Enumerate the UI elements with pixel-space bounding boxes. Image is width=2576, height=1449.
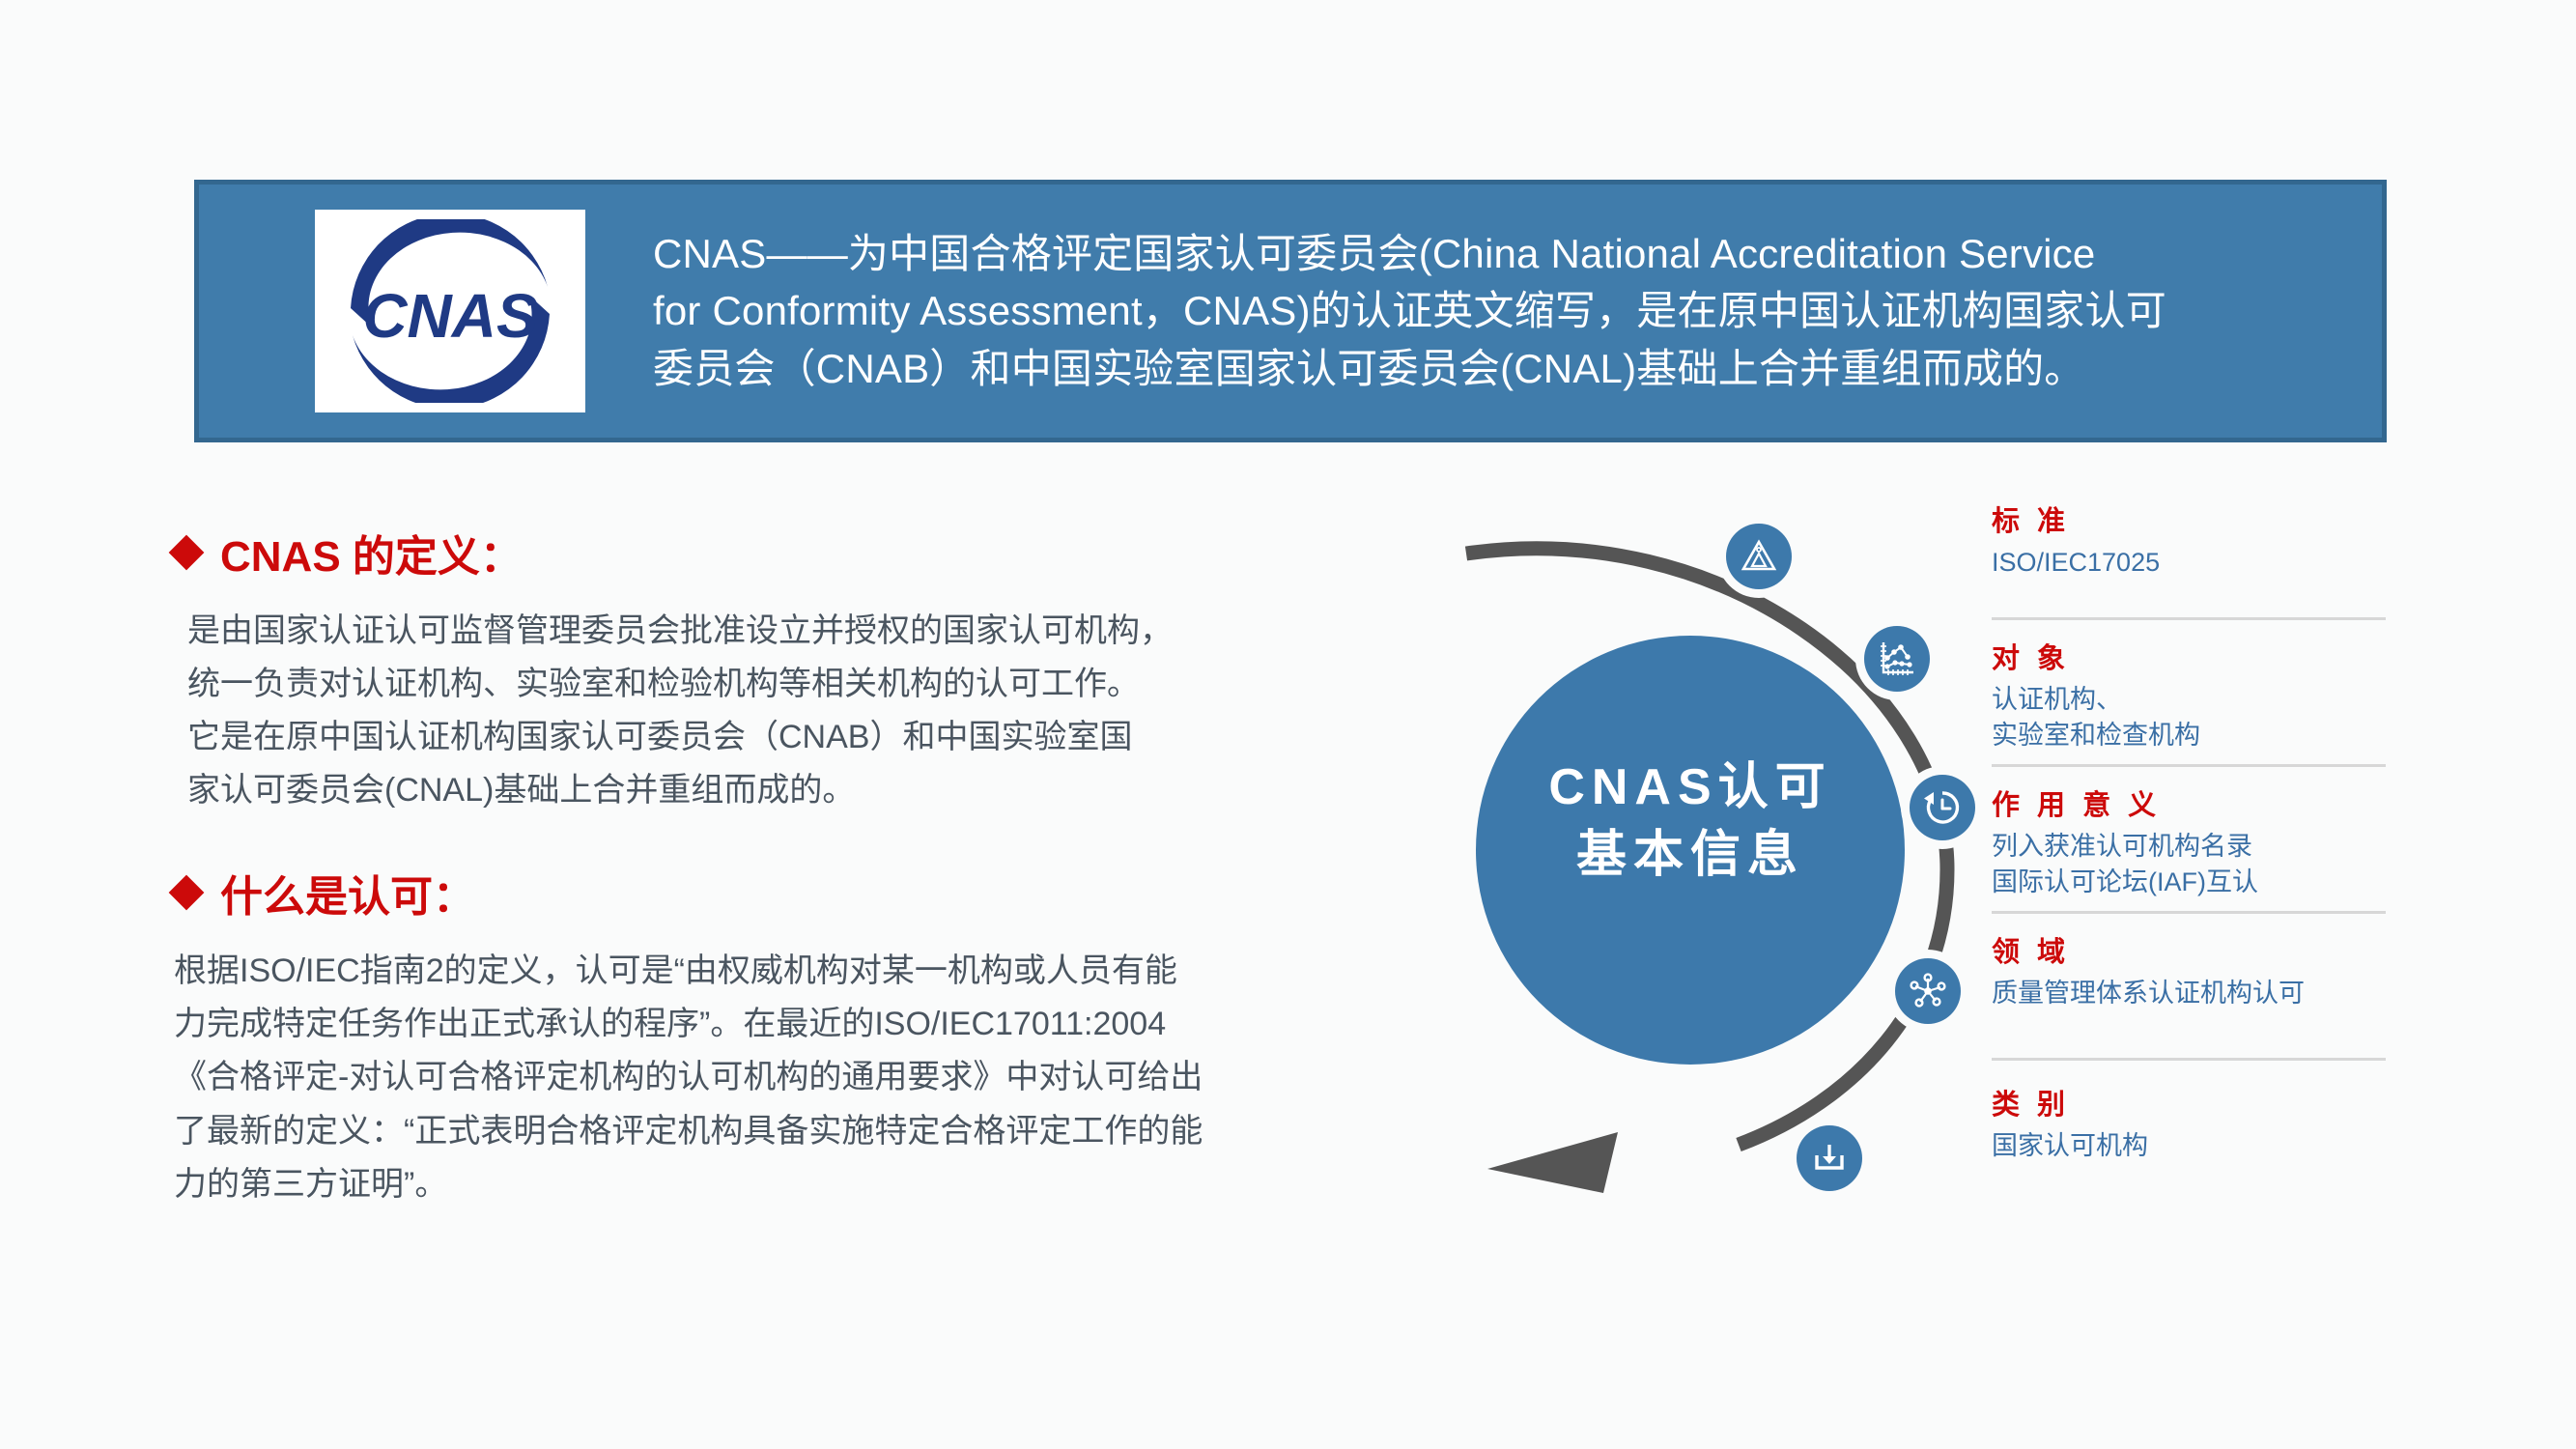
section-cnas-definition: CNAS 的定义： 是由国家认证认可监督管理委员会批准设立并授权的国家认可机构，… — [174, 522, 1420, 817]
info-item-category[interactable]: 类 别 国家认可机构 — [1992, 1061, 2386, 1170]
header-banner: CNAS CNAS——为中国合格评定国家认可委员会(China National… — [194, 180, 2387, 442]
info-item-desc: 认证机构、 实验室和检查机构 — [1992, 682, 2386, 754]
section-body: 是由国家认证认可监督管理委员会批准设立并授权的国家认可机构， 统一负责对认证机构… — [174, 605, 1420, 817]
info-item-standard[interactable]: 标 准 ISO/IEC17025 — [1992, 498, 2386, 620]
info-item-desc: 质量管理体系认证机构认可 — [1992, 976, 2386, 1011]
badge-download-inbox[interactable] — [1797, 1125, 1862, 1191]
left-content-column: CNAS 的定义： 是由国家认证认可监督管理委员会批准设立并授权的国家认可机构，… — [174, 522, 1420, 1256]
badge-clock-history[interactable] — [1910, 775, 1975, 840]
pyramid-triangle-icon — [1740, 537, 1778, 576]
center-circle — [1476, 636, 1905, 1065]
download-inbox-icon — [1809, 1138, 1850, 1179]
info-item-significance[interactable]: 作 用 意 义 列入获准认可机构名录 国际认可论坛(IAF)互认 — [1992, 767, 2386, 914]
banner-text: CNAS——为中国合格评定国家认可委员会(China National Accr… — [653, 225, 2205, 398]
info-item-title: 领 域 — [1992, 929, 2386, 970]
info-list: 标 准 ISO/IEC17025 对 象 认证机构、 实验室和检查机构 作 用 … — [1992, 498, 2386, 1170]
cycle-arrow-head — [1487, 1132, 1618, 1193]
info-item-title: 对 象 — [1992, 636, 2386, 676]
diamond-bullet-icon — [169, 875, 205, 911]
diamond-bullet-icon — [169, 535, 205, 571]
section-body: 根据ISO/IEC指南2的定义，认可是“由权威机构对某一机构或人员有能 力完成特… — [174, 945, 1420, 1210]
cnas-logo-box: CNAS — [315, 210, 585, 412]
badge-pyramid-triangle[interactable] — [1726, 524, 1792, 589]
info-item-desc: 列入获准认可机构名录 国际认可论坛(IAF)互认 — [1992, 829, 2386, 901]
section-heading-label: CNAS 的定义： — [220, 522, 523, 583]
section-heading-label: 什么是认可： — [220, 862, 475, 923]
info-item-title: 标 准 — [1992, 498, 2386, 539]
badge-line-chart[interactable] — [1864, 626, 1930, 692]
line-chart-icon — [1877, 639, 1917, 679]
info-item-object[interactable]: 对 象 认证机构、 实验室和检查机构 — [1992, 620, 2386, 767]
clock-history-icon — [1921, 786, 1964, 829]
network-hub-icon — [1908, 971, 1948, 1011]
info-item-desc: 国家认可机构 — [1992, 1128, 2386, 1164]
info-item-field[interactable]: 领 域 质量管理体系认证机构认可 — [1992, 914, 2386, 1061]
badge-network-hub[interactable] — [1895, 958, 1961, 1024]
info-item-title: 类 别 — [1992, 1082, 2386, 1122]
section-heading: CNAS 的定义： — [174, 522, 1420, 583]
cnas-logo: CNAS — [329, 219, 571, 403]
info-item-desc: ISO/IEC17025 — [1992, 545, 2386, 581]
svg-text:CNAS: CNAS — [362, 281, 538, 351]
info-item-title: 作 用 意 义 — [1992, 782, 2386, 823]
section-what-is-accreditation: 什么是认可： 根据ISO/IEC指南2的定义，认可是“由权威机构对某一机构或人员… — [174, 862, 1420, 1210]
section-heading: 什么是认可： — [174, 862, 1420, 923]
